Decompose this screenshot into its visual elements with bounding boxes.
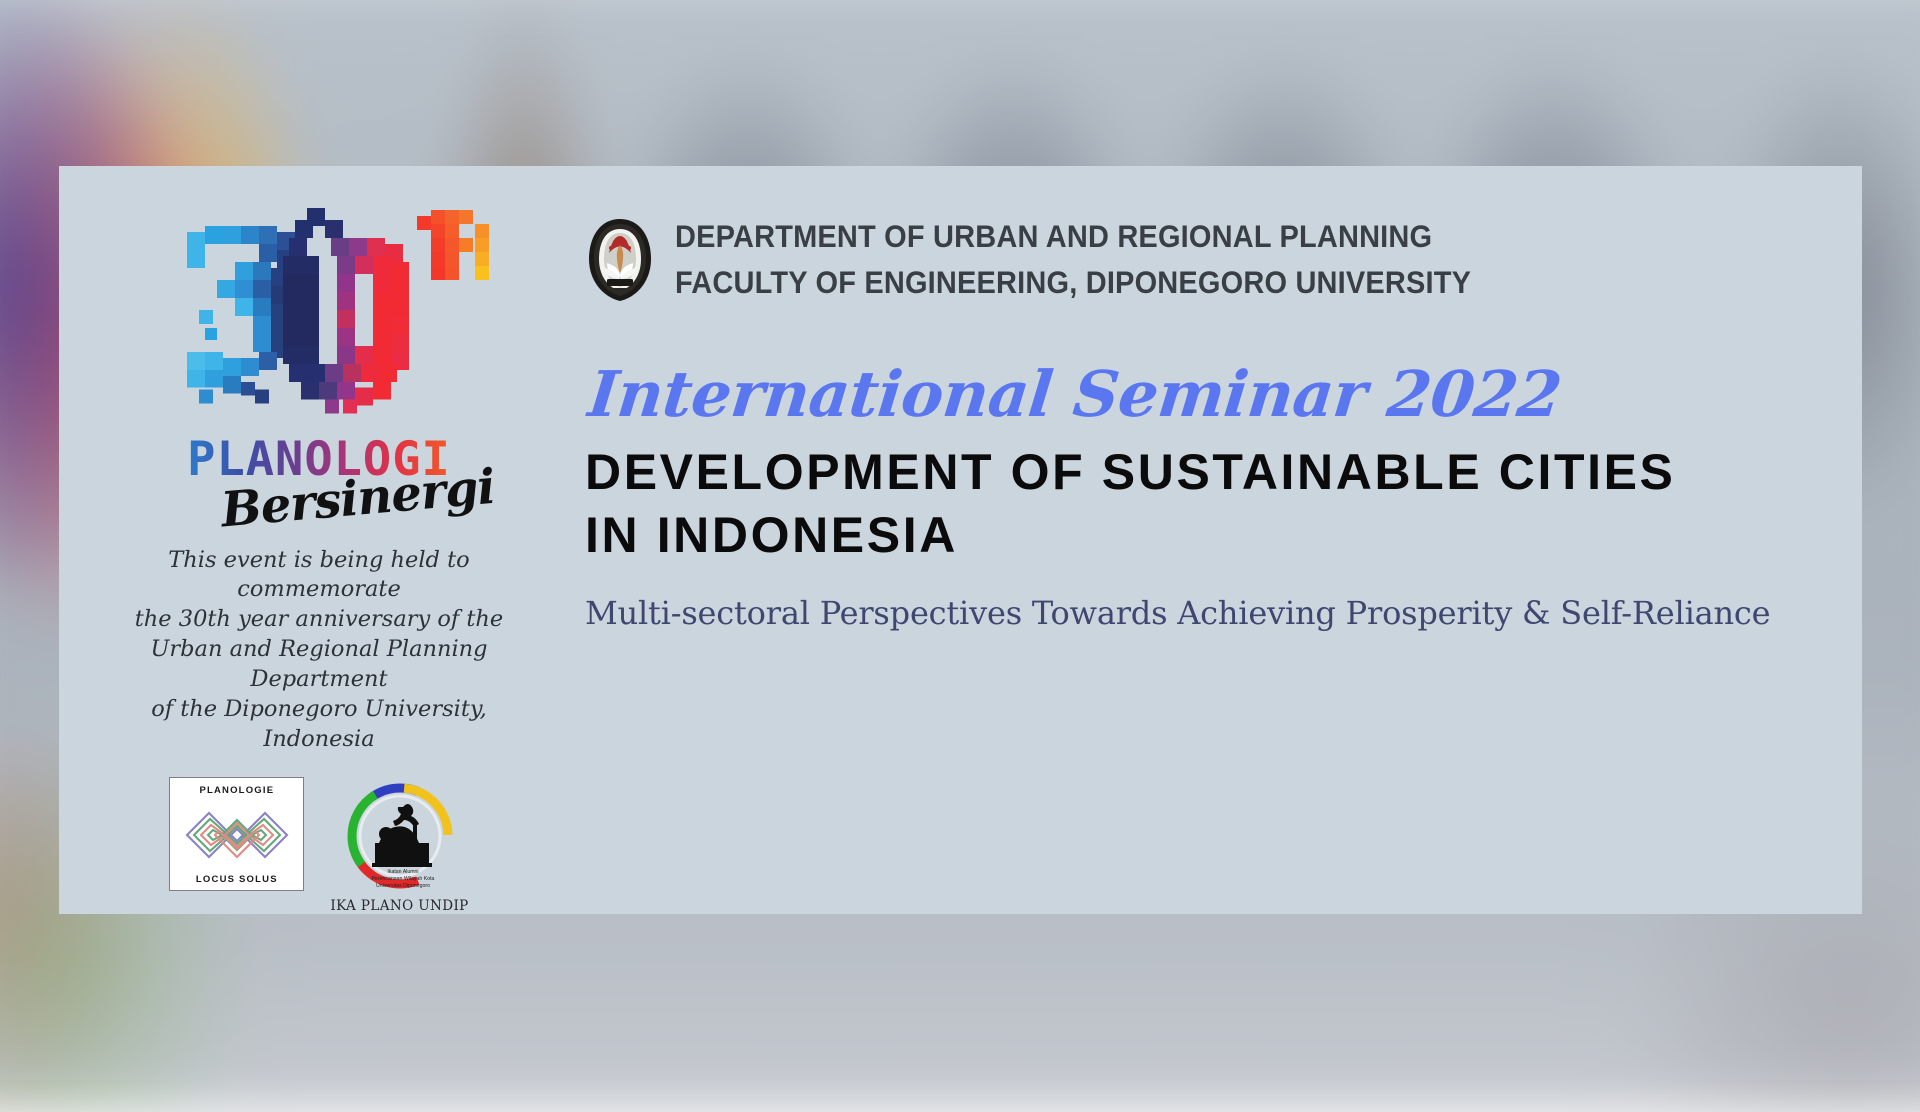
ika-plano-undip-caption: IKA PLANO UNDIP — [330, 898, 468, 914]
flyer-left-column: PLANOLOGI Bersinergi This event is being… — [59, 166, 579, 914]
commemoration-line-2: the 30th year anniversary of the — [109, 605, 529, 635]
svg-text:Perencanaan Wilayah Kota: Perencanaan Wilayah Kota — [371, 876, 434, 882]
svg-text:Ikatan Alumni: Ikatan Alumni — [387, 869, 418, 875]
seminar-flyer-card: PLANOLOGI Bersinergi This event is being… — [59, 166, 1862, 914]
headline-line-2: IN INDONESIA — [585, 504, 1822, 567]
department-header: DEPARTMENT OF URBAN AND REGIONAL PLANNIN… — [585, 214, 1822, 305]
locus-solus-bottom-label: LOCUS SOLUS — [196, 874, 278, 885]
commemoration-text: This event is being held to commemorate … — [109, 546, 529, 755]
flyer-right-column: DEPARTMENT OF URBAN AND REGIONAL PLANNIN… — [579, 166, 1862, 914]
locus-solus-emblem — [179, 802, 295, 868]
department-line-2: FACULTY OF ENGINEERING, DIPONEGORO UNIVE… — [675, 260, 1471, 306]
headline-line-1: DEVELOPMENT OF SUSTAINABLE CITIES — [585, 441, 1822, 504]
ika-plano-undip-logo-wrap: Ikatan Alumni Perencanaan Wilayah Kota U… — [330, 777, 468, 914]
svg-text:Universitas Diponegoro: Universitas Diponegoro — [376, 883, 430, 889]
commemoration-line-4: of the Diponegoro University, Indonesia — [109, 695, 529, 755]
pixel-30th-logo — [139, 184, 499, 434]
commemoration-line-3: Urban and Regional Planning Department — [109, 635, 529, 695]
seminar-title: International Seminar 2022 — [585, 357, 1830, 431]
ika-plano-undip-emblem: Ikatan Alumni Perencanaan Wilayah Kota U… — [339, 777, 461, 895]
locus-solus-top-label: PLANOLOGIE — [199, 785, 274, 796]
headline: DEVELOPMENT OF SUSTAINABLE CITIES IN IND… — [585, 441, 1822, 566]
partner-logos-row: PLANOLOGIE LOCUS SOLUS — [169, 777, 468, 914]
commemoration-line-1: This event is being held to commemorate — [109, 546, 529, 606]
tagline: Multi-sectoral Perspectives Towards Achi… — [585, 594, 1822, 632]
locus-solus-logo: PLANOLOGIE LOCUS SOLUS — [169, 777, 304, 891]
planologi-wordmark-wrap: PLANOLOGI Bersinergi — [129, 428, 509, 538]
department-line-1: DEPARTMENT OF URBAN AND REGIONAL PLANNIN… — [675, 214, 1471, 260]
diponegoro-university-seal — [585, 217, 655, 303]
department-text: DEPARTMENT OF URBAN AND REGIONAL PLANNIN… — [675, 214, 1471, 305]
